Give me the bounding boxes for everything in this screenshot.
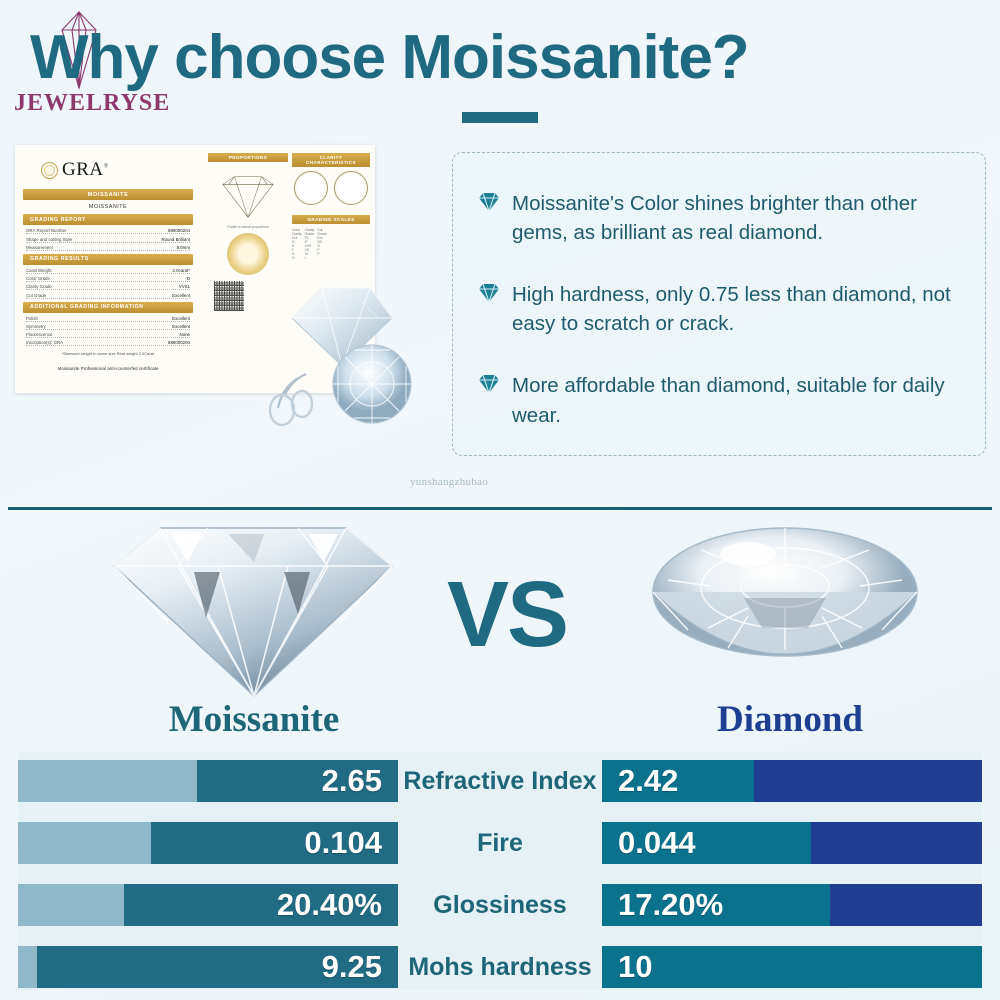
diamond-gem-image — [648, 520, 923, 702]
diamond-label: Diamond — [640, 698, 940, 741]
diagram-caption: Profile to actual proportions — [208, 225, 288, 229]
moissanite-value: 2.65 — [322, 763, 398, 799]
certificate-note: *Diamond weight in same size Real weight… — [23, 351, 193, 356]
section-divider — [8, 507, 992, 510]
diamond-icon — [477, 192, 501, 247]
section-heading: ADDITIONAL GRADING INFORMATION — [23, 302, 193, 313]
moissanite-value: 9.25 — [322, 949, 398, 985]
certificate-left-column: GRA® MOISSANITE MOISSANITE GRADING REPOR… — [15, 145, 201, 393]
benefit-item: Moissanite's Color shines brighter than … — [477, 189, 961, 247]
moissanite-bar: 20.40% — [18, 884, 398, 926]
cert-row: SymmetryExcellent — [26, 324, 190, 330]
cert-row: Clarity GradeVVS1 — [26, 284, 190, 290]
gra-seal-icon — [41, 162, 58, 179]
comparison-row: 9.25 Mohs hardness 10 — [18, 946, 982, 988]
page-title: Why choose Moissanite? — [30, 22, 749, 93]
moissanite-value: 20.40% — [277, 887, 398, 923]
benefit-item: More affordable than diamond, suitable f… — [477, 371, 961, 429]
benefit-item: High hardness, only 0.75 less than diamo… — [477, 280, 961, 338]
section-heading: GRADING RESULTS — [23, 254, 193, 265]
cert-row: Shape and cutting StyleRound Brilliant — [26, 237, 190, 243]
proportions-diagram: Profile to actual proportions — [208, 165, 288, 227]
cert-row: FluorescenceNone — [26, 332, 190, 338]
diamond-bar: 0.044 — [602, 822, 982, 864]
certificate-footer: Moissanite Professional anti-counterfeit… — [23, 366, 193, 371]
metric-label: Glossiness — [398, 891, 602, 920]
moissanite-bar: 9.25 — [18, 946, 398, 988]
diamond-bar: 10 — [602, 946, 982, 988]
diamond-value: 2.42 — [602, 763, 678, 799]
moissanite-gem-image — [108, 522, 398, 700]
bar-fill — [602, 946, 982, 988]
title-underline — [462, 112, 538, 123]
metric-label: Refractive Index — [398, 767, 602, 796]
diamond-profile-icon — [208, 165, 288, 223]
benefits-panel: Moissanite's Color shines brighter than … — [452, 152, 986, 456]
section-heading: GRADING REPORT — [23, 214, 193, 225]
gra-wordmark: GRA® — [62, 159, 109, 181]
diamond-bar: 17.20% — [602, 884, 982, 926]
moissanite-value: 0.104 — [304, 825, 398, 861]
vs-label: VS — [398, 568, 616, 661]
cert-row: Measurement8.0mm — [26, 245, 190, 251]
panel-heading: CLARITY CHARACTERISTICS — [292, 153, 370, 167]
clarity-diagram-icon — [334, 171, 368, 205]
metric-label: Mohs hardness — [398, 953, 602, 982]
benefit-text: More affordable than diamond, suitable f… — [512, 371, 961, 429]
panel-heading: PROPORTIONS — [208, 153, 288, 162]
benefit-text: Moissanite's Color shines brighter than … — [512, 189, 961, 247]
comparison-row: 0.104 Fire 0.044 — [18, 822, 982, 864]
comparison-row: 20.40% Glossiness 17.20% — [18, 884, 982, 926]
clarity-diagram-icon — [294, 171, 328, 205]
comparison-chart: 2.65 Refractive Index 2.42 0.104 Fire 0.… — [18, 752, 982, 990]
diamond-icon — [477, 374, 501, 429]
cert-row: Carat Weight2.0carat* — [26, 268, 190, 274]
diamond-icon — [477, 283, 501, 338]
cert-row: Color GradeD — [26, 276, 190, 282]
comparison-row: 2.65 Refractive Index 2.42 — [18, 760, 982, 802]
panel-heading: GRADING SCALES — [292, 215, 370, 224]
diamond-value: 17.20% — [602, 887, 723, 923]
certificate-illustration: GRA® MOISSANITE MOISSANITE GRADING REPOR… — [12, 142, 432, 492]
diamond-bar: 2.42 — [602, 760, 982, 802]
watermark-text: yunshangzhubao — [410, 476, 488, 488]
cert-row: Cut GradeExcellent — [26, 293, 190, 299]
diamond-value: 10 — [602, 949, 652, 985]
cert-row: Inscription(s): GRA889000204 — [26, 340, 190, 346]
certificate-title-bar: MOISSANITE — [23, 189, 193, 200]
certificate-subtitle: MOISSANITE — [23, 204, 193, 210]
gold-rosette-icon — [227, 233, 269, 275]
brand-name: JEWELRYSE — [14, 90, 170, 117]
moissanite-label: Moissanite — [104, 698, 404, 741]
benefit-text: High hardness, only 0.75 less than diamo… — [512, 280, 961, 338]
moissanite-bar: 2.65 — [18, 760, 398, 802]
cert-row: GRA Report Number889000204 — [26, 228, 190, 234]
moissanite-earring-photo — [240, 270, 430, 445]
gra-logo-row: GRA® — [41, 159, 193, 181]
moissanite-bar: 0.104 — [18, 822, 398, 864]
infographic-page: JEWELRYSE Why choose Moissanite? GRA® MO… — [0, 0, 1000, 1000]
cert-row: PolishExcellent — [26, 316, 190, 322]
diamond-value: 0.044 — [602, 825, 696, 861]
metric-label: Fire — [398, 829, 602, 858]
